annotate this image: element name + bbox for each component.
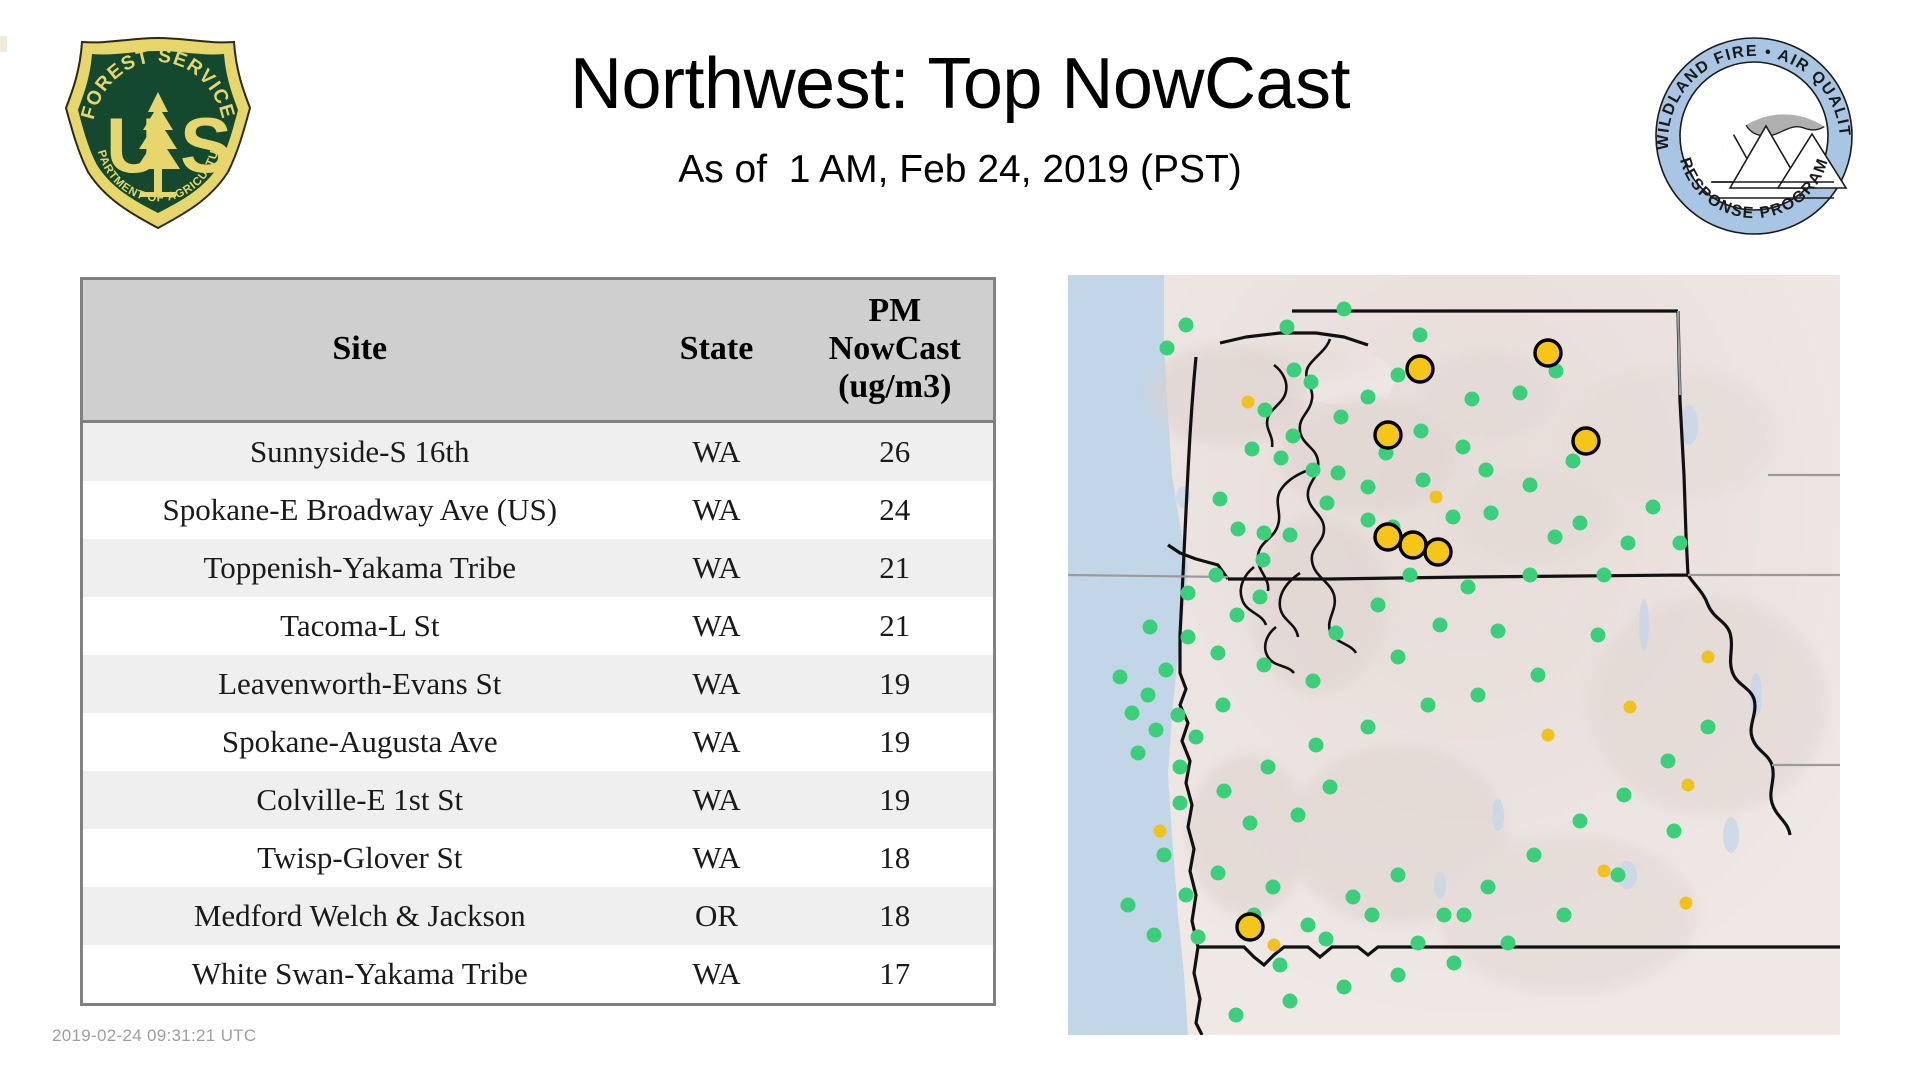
column-header-state: State <box>637 279 797 422</box>
monitor-marker-green <box>1465 392 1480 407</box>
monitor-marker-yellow <box>1430 491 1443 504</box>
table-row: Toppenish-Yakama Tribe WA 21 <box>82 539 995 597</box>
monitor-marker-green <box>1337 980 1352 995</box>
monitor-marker-green <box>1209 568 1224 583</box>
top-site-marker <box>1400 532 1426 558</box>
monitor-marker-green <box>1667 824 1682 839</box>
cell-pm: 19 <box>797 655 995 713</box>
cell-pm: 17 <box>797 945 995 1005</box>
top-site-marker <box>1407 356 1433 382</box>
monitor-marker-green <box>1173 760 1188 775</box>
monitor-marker-yellow <box>1624 701 1637 714</box>
column-header-pm-nowcast: PM NowCast (ug/m3) <box>797 279 995 422</box>
monitor-marker-green <box>1437 908 1452 923</box>
cell-site: Medford Welch & Jackson <box>82 887 637 945</box>
cell-site: Toppenish-Yakama Tribe <box>82 539 637 597</box>
monitor-marker-green <box>1433 618 1448 633</box>
monitor-location-map <box>1068 275 1840 1035</box>
monitor-marker-green <box>1523 568 1538 583</box>
monitor-marker-green <box>1217 784 1232 799</box>
monitor-marker-green <box>1701 720 1716 735</box>
monitor-marker-green <box>1229 1008 1244 1023</box>
table-row: Leavenworth-Evans St WA 19 <box>82 655 995 713</box>
monitor-marker-green <box>1257 526 1272 541</box>
top-site-marker <box>1375 524 1401 550</box>
monitor-marker-green <box>1280 320 1295 335</box>
monitor-marker-green <box>1211 866 1226 881</box>
monitor-marker-green <box>1179 318 1194 333</box>
usda-forest-service-logo: FOREST SERVICE DEPARTMENT OF AGRICULTURE… <box>58 32 258 232</box>
monitor-marker-green <box>1257 658 1272 673</box>
monitor-marker-green <box>1334 410 1349 425</box>
monitor-marker-green <box>1211 646 1226 661</box>
table-row: Colville-E 1st St WA 19 <box>82 771 995 829</box>
monitor-marker-green <box>1261 760 1276 775</box>
monitor-marker-green <box>1306 463 1321 478</box>
cell-site: Sunnyside-S 16th <box>82 422 637 482</box>
monitor-marker-yellow <box>1154 825 1167 838</box>
edge-crop-artifact <box>0 36 7 52</box>
monitor-marker-yellow <box>1542 729 1555 742</box>
cell-state: WA <box>637 597 797 655</box>
monitor-marker-green <box>1243 816 1258 831</box>
monitor-marker-green <box>1365 908 1380 923</box>
monitor-marker-green <box>1597 568 1612 583</box>
table-row: Tacoma-L St WA 21 <box>82 597 995 655</box>
nowcast-table-container: Site State PM NowCast (ug/m3) Sunnyside-… <box>80 277 993 1006</box>
monitor-marker-green <box>1266 880 1281 895</box>
generation-timestamp: 2019-02-24 09:31:21 UTC <box>52 1026 256 1046</box>
monitor-marker-green <box>1230 608 1245 623</box>
monitor-marker-green <box>1403 568 1418 583</box>
monitor-marker-green <box>1323 780 1338 795</box>
cell-state: WA <box>637 539 797 597</box>
cell-pm: 18 <box>797 887 995 945</box>
monitor-marker-green <box>1416 473 1431 488</box>
cell-pm: 24 <box>797 481 995 539</box>
monitor-marker-green <box>1287 363 1302 378</box>
monitor-marker-green <box>1329 626 1344 641</box>
monitor-marker-green <box>1286 429 1301 444</box>
monitor-marker-green <box>1346 890 1361 905</box>
monitor-marker-green <box>1283 994 1298 1009</box>
monitor-marker-green <box>1447 956 1462 971</box>
monitor-marker-green <box>1181 586 1196 601</box>
cell-pm: 18 <box>797 829 995 887</box>
cell-state: WA <box>637 481 797 539</box>
monitor-marker-green <box>1361 720 1376 735</box>
page-header: FOREST SERVICE DEPARTMENT OF AGRICULTURE… <box>0 0 1920 250</box>
monitor-marker-green <box>1484 506 1499 521</box>
cell-state: OR <box>637 887 797 945</box>
monitor-marker-green <box>1191 930 1206 945</box>
monitor-marker-green <box>1548 530 1563 545</box>
monitor-marker-green <box>1457 908 1472 923</box>
monitor-marker-green <box>1159 663 1174 678</box>
monitor-marker-green <box>1391 368 1406 383</box>
monitor-marker-green <box>1173 796 1188 811</box>
table-row: Medford Welch & Jackson OR 18 <box>82 887 995 945</box>
monitor-marker-green <box>1131 746 1146 761</box>
monitor-marker-green <box>1171 708 1186 723</box>
monitor-marker-green <box>1673 536 1688 551</box>
table-row: Spokane-Augusta Ave WA 19 <box>82 713 995 771</box>
cell-site: Spokane-Augusta Ave <box>82 713 637 771</box>
monitor-marker-green <box>1413 328 1428 343</box>
monitor-marker-green <box>1337 302 1352 317</box>
monitor-marker-yellow <box>1242 396 1255 409</box>
top-site-marker <box>1425 539 1451 565</box>
monitor-marker-green <box>1479 463 1494 478</box>
monitor-marker-green <box>1573 516 1588 531</box>
monitor-marker-yellow <box>1598 865 1611 878</box>
shield-letter-s: S <box>180 101 232 189</box>
monitor-marker-green <box>1446 510 1461 525</box>
top-nowcast-table: Site State PM NowCast (ug/m3) Sunnyside-… <box>80 277 996 1006</box>
monitor-marker-green <box>1149 723 1164 738</box>
monitor-marker-green <box>1319 932 1334 947</box>
monitor-marker-green <box>1331 466 1346 481</box>
title-block: Northwest: Top NowCast As of 1 AM, Feb 2… <box>280 48 1640 189</box>
cell-state: WA <box>637 655 797 713</box>
table-row: Twisp-Glover St WA 18 <box>82 829 995 887</box>
monitor-marker-green <box>1491 624 1506 639</box>
top-site-marker <box>1573 428 1599 454</box>
monitor-marker-green <box>1160 341 1175 356</box>
wildland-fire-air-quality-logo: WILDLAND FIRE • AIR QUALITY RESPONSE PRO… <box>1648 30 1860 242</box>
monitor-marker-green <box>1245 442 1260 457</box>
cell-site: Twisp-Glover St <box>82 829 637 887</box>
monitor-marker-yellow <box>1702 651 1715 664</box>
cell-state: WA <box>637 713 797 771</box>
map-panel <box>1068 275 1840 1035</box>
table-header-row: Site State PM NowCast (ug/m3) <box>82 279 995 422</box>
monitor-marker-green <box>1591 628 1606 643</box>
monitor-marker-green <box>1371 598 1386 613</box>
monitor-marker-green <box>1361 390 1376 405</box>
page-subtitle: As of 1 AM, Feb 24, 2019 (PST) <box>280 150 1640 189</box>
monitor-marker-green <box>1513 386 1528 401</box>
cell-pm: 19 <box>797 713 995 771</box>
monitor-marker-green <box>1617 788 1632 803</box>
top-site-marker <box>1535 340 1561 366</box>
monitor-marker-green <box>1283 528 1298 543</box>
monitor-marker-green <box>1141 688 1156 703</box>
cell-pm: 21 <box>797 597 995 655</box>
monitor-marker-green <box>1461 580 1476 595</box>
monitor-marker-green <box>1121 898 1136 913</box>
monitor-marker-green <box>1557 908 1572 923</box>
monitor-marker-green <box>1306 674 1321 689</box>
monitor-marker-green <box>1361 480 1376 495</box>
monitor-marker-green <box>1573 814 1588 829</box>
monitor-marker-green <box>1621 536 1636 551</box>
monitor-marker-green <box>1411 936 1426 951</box>
monitor-marker-green <box>1213 492 1228 507</box>
monitor-marker-green <box>1501 936 1516 951</box>
monitor-marker-green <box>1258 403 1273 418</box>
monitor-marker-green <box>1273 958 1288 973</box>
monitor-marker-yellow <box>1680 897 1693 910</box>
monitor-marker-green <box>1361 513 1376 528</box>
monitor-marker-green <box>1566 454 1581 469</box>
monitor-marker-green <box>1309 738 1324 753</box>
top-site-marker <box>1375 422 1401 448</box>
table-row: Spokane-E Broadway Ave (US) WA 24 <box>82 481 995 539</box>
monitor-marker-green <box>1481 880 1496 895</box>
page-title: Northwest: Top NowCast <box>280 48 1640 120</box>
cell-pm: 21 <box>797 539 995 597</box>
cell-pm: 26 <box>797 422 995 482</box>
cell-site: Colville-E 1st St <box>82 771 637 829</box>
table-row: Sunnyside-S 16th WA 26 <box>82 422 995 482</box>
monitor-marker-green <box>1661 754 1676 769</box>
monitor-marker-green <box>1391 968 1406 983</box>
monitor-marker-green <box>1125 706 1140 721</box>
cell-state: WA <box>637 422 797 482</box>
monitor-marker-green <box>1611 868 1626 883</box>
monitor-marker-green <box>1421 698 1436 713</box>
cell-pm: 19 <box>797 771 995 829</box>
monitor-marker-green <box>1179 888 1194 903</box>
cell-site: Spokane-E Broadway Ave (US) <box>82 481 637 539</box>
top-site-marker <box>1237 914 1263 940</box>
monitor-marker-green <box>1216 698 1231 713</box>
monitor-marker-green <box>1456 440 1471 455</box>
monitor-marker-green <box>1113 670 1128 685</box>
cell-site: Leavenworth-Evans St <box>82 655 637 713</box>
monitor-marker-green <box>1301 918 1316 933</box>
monitor-marker-green <box>1147 928 1162 943</box>
monitor-marker-green <box>1181 630 1196 645</box>
monitor-marker-green <box>1143 620 1158 635</box>
monitor-marker-green <box>1157 848 1172 863</box>
monitor-marker-green <box>1646 500 1661 515</box>
monitor-marker-green <box>1320 496 1335 511</box>
cell-state: WA <box>637 945 797 1005</box>
monitor-marker-green <box>1527 848 1542 863</box>
monitor-marker-green <box>1391 650 1406 665</box>
monitor-marker-green <box>1414 424 1429 439</box>
monitor-marker-yellow <box>1682 779 1695 792</box>
monitor-marker-green <box>1253 590 1268 605</box>
monitor-marker-green <box>1523 478 1538 493</box>
table-row: White Swan-Yakama Tribe WA 17 <box>82 945 995 1005</box>
monitor-marker-green <box>1471 688 1486 703</box>
monitor-marker-green <box>1291 808 1306 823</box>
table-body: Sunnyside-S 16th WA 26 Spokane-E Broadwa… <box>82 422 995 1005</box>
column-header-site: Site <box>82 279 637 422</box>
monitor-marker-green <box>1531 668 1546 683</box>
cell-state: WA <box>637 771 797 829</box>
monitor-marker-green <box>1274 451 1289 466</box>
monitor-marker-green <box>1304 375 1319 390</box>
monitor-marker-green <box>1189 730 1204 745</box>
cell-site: White Swan-Yakama Tribe <box>82 945 637 1005</box>
cell-site: Tacoma-L St <box>82 597 637 655</box>
monitor-marker-green <box>1231 522 1246 537</box>
monitor-marker-yellow <box>1268 939 1281 952</box>
monitor-marker-green <box>1256 553 1271 568</box>
monitor-marker-green <box>1391 868 1406 883</box>
cell-state: WA <box>637 829 797 887</box>
